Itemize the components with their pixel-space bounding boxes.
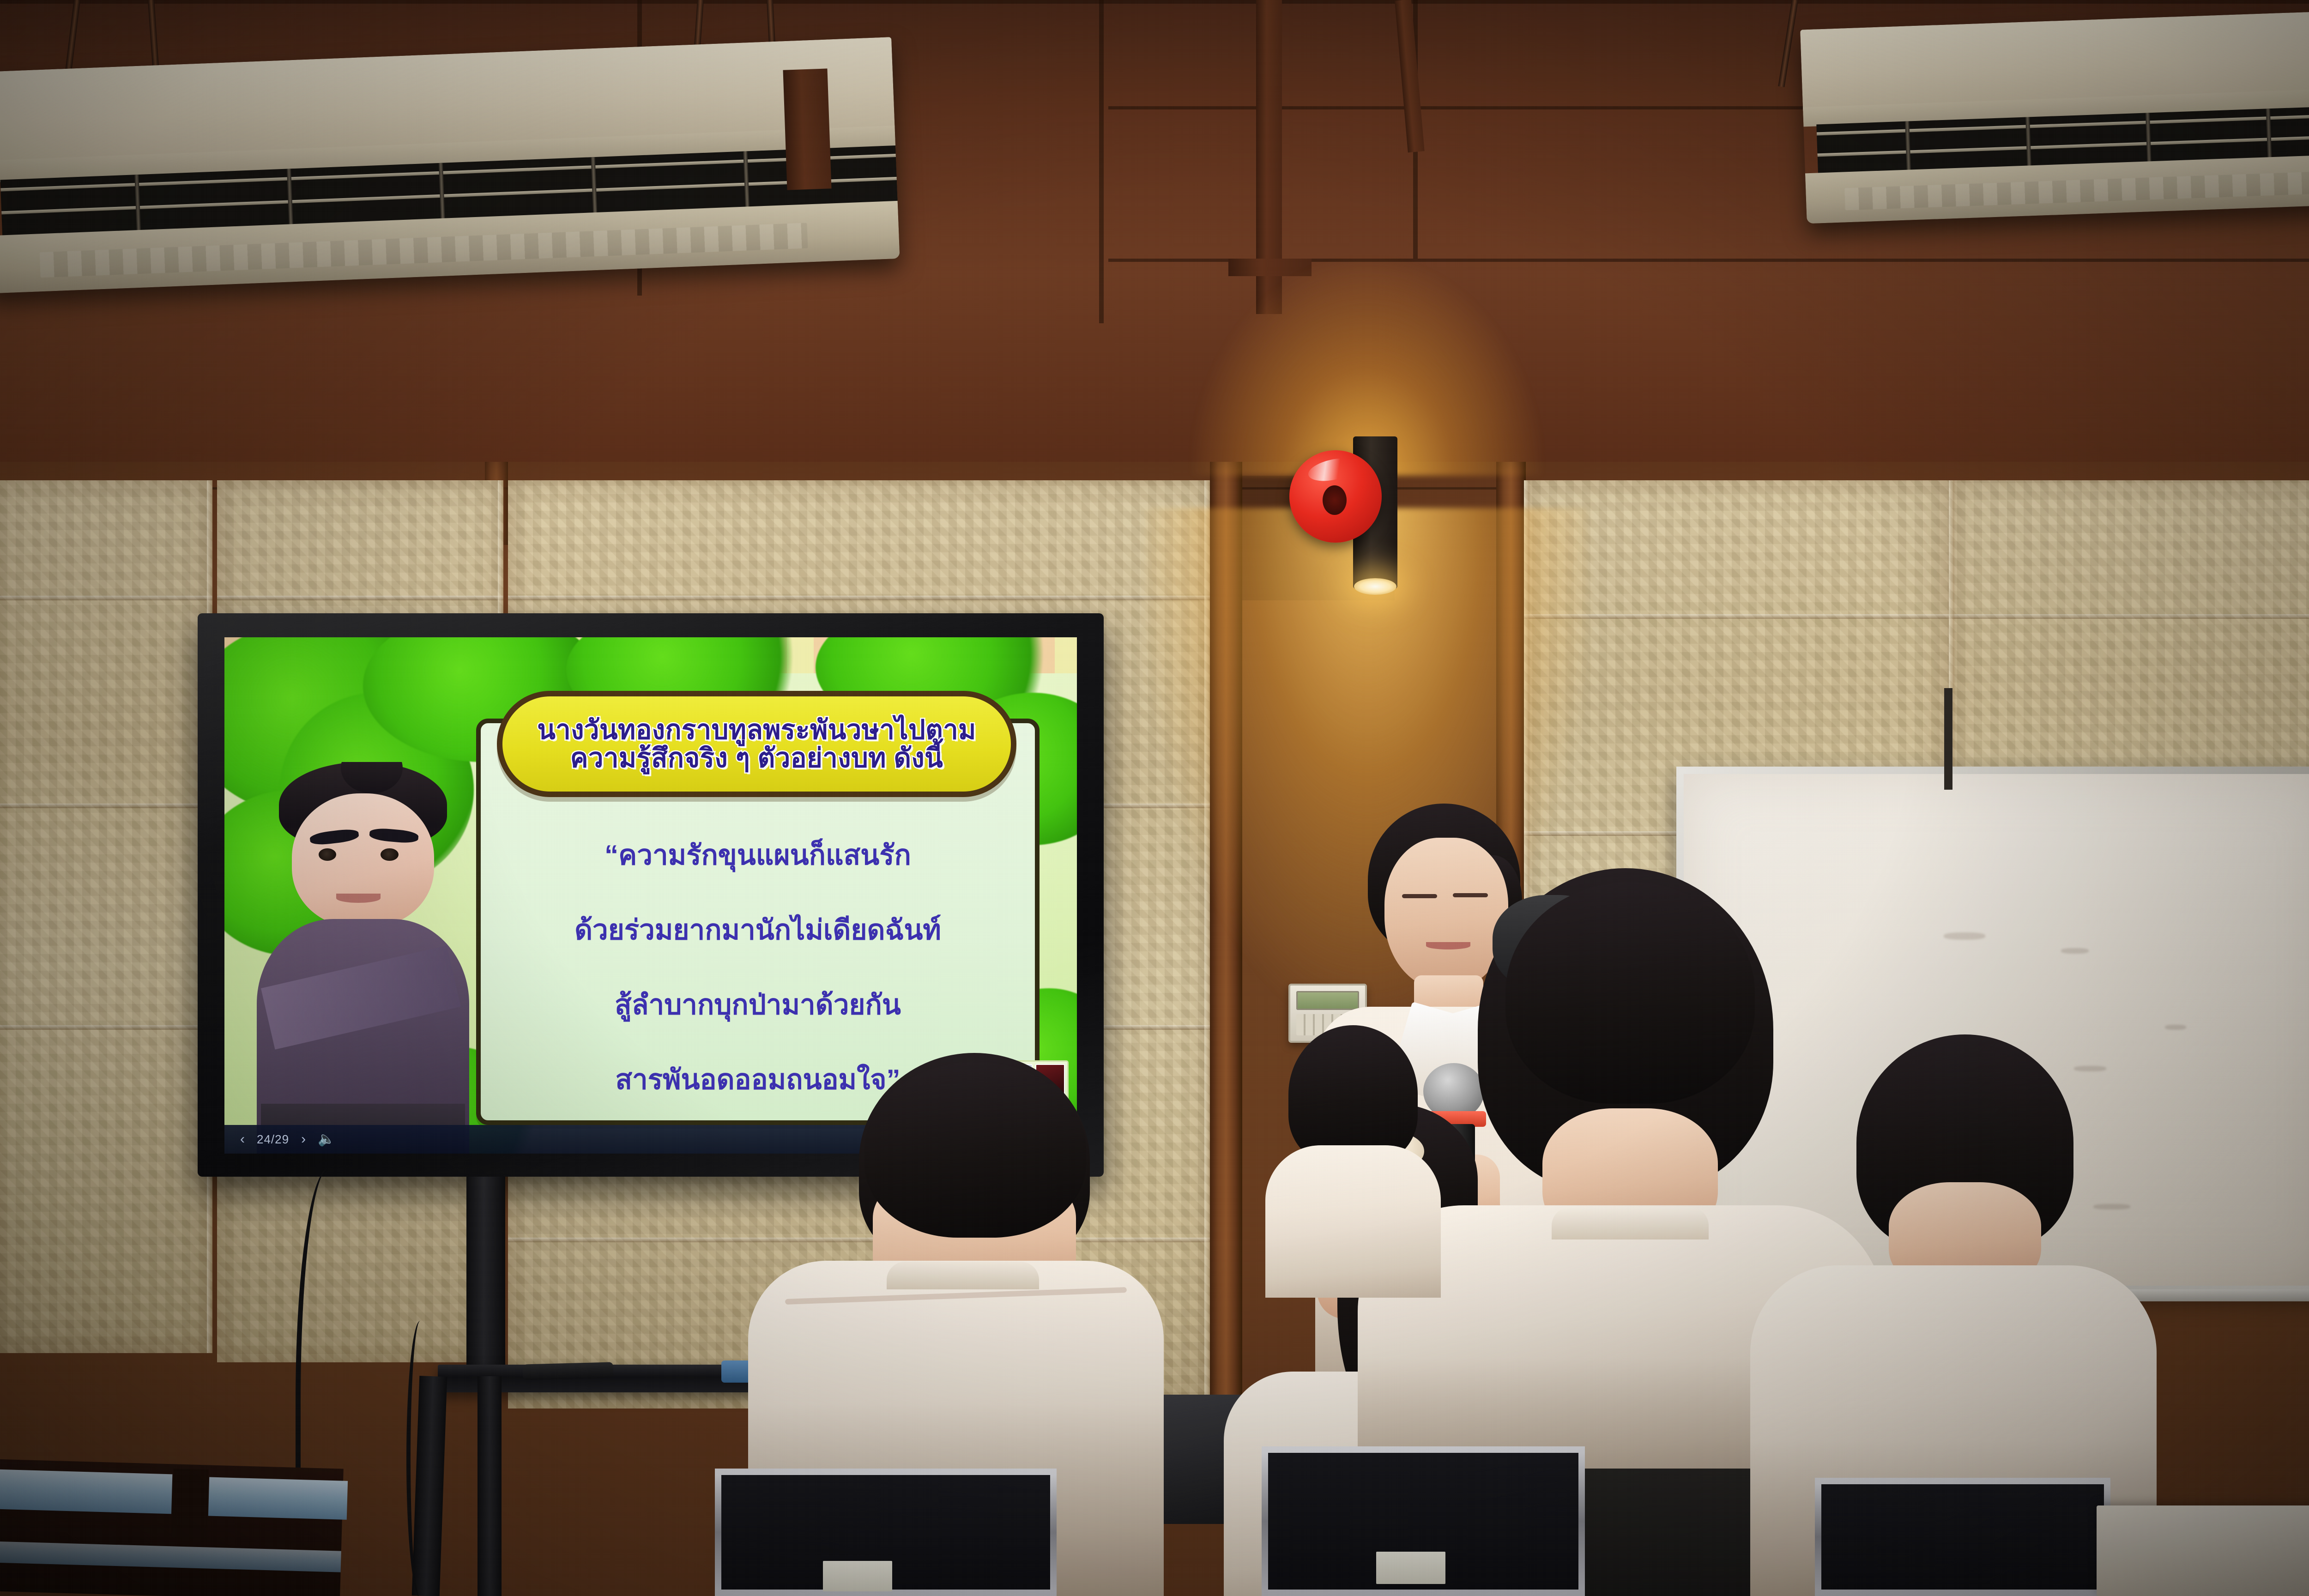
- window-pane: [0, 1469, 172, 1514]
- ceiling-air-conditioner-right: [1800, 7, 2309, 224]
- student-hair-bun: [1505, 882, 1755, 1104]
- student-shirt: [1265, 1145, 1441, 1298]
- tv-stand-neck: [466, 1177, 505, 1375]
- page-indicator: 24/29: [257, 1132, 289, 1147]
- seated-student-behind-speaker: [1279, 1025, 1432, 1284]
- ac-bracket: [783, 68, 831, 190]
- chair-sticker: [823, 1561, 892, 1591]
- window-pane: [208, 1477, 348, 1520]
- chevron-right-icon[interactable]: ›: [301, 1132, 306, 1146]
- whiteboard-hanger: [1944, 688, 1952, 790]
- window-pane: [0, 1541, 341, 1572]
- window-bottom-left: [0, 1459, 344, 1596]
- beige-damask-fabric-panel: [0, 480, 212, 1353]
- side-table: [2097, 1505, 2309, 1596]
- ceiling-air-conditioner-left: [0, 37, 900, 294]
- student-collar: [887, 1262, 1039, 1289]
- fire-alarm-bell: [1289, 450, 1382, 543]
- slide-title-line-2: ความรู้สึกจริง ๆ ตัวอย่างบท ดังนี้: [570, 744, 943, 772]
- tv-stand-leg: [478, 1376, 502, 1596]
- classroom-photo-scene: ความรู้สึกที่มีต่อ “ขุนแผน” “ความรักขุนแ…: [0, 0, 2309, 1596]
- slide-verse-line-3: สู้ลำบากบุกป่ามาด้วยกัน: [481, 983, 1035, 1027]
- slide-title-banner: นางวันทองกราบทูลพระพันวษาไปตาม ความรู้สึ…: [497, 691, 1016, 797]
- chrome-frame-chair-right[interactable]: [1815, 1478, 2110, 1596]
- ceiling-seam: [0, 0, 2309, 4]
- tv-remote-control[interactable]: [523, 1362, 614, 1380]
- student-collar: [1552, 1207, 1709, 1239]
- window-mullion: [172, 1469, 209, 1539]
- slide-title-line-1: นางวันทองกราบทูลพระพันวษาไปตาม: [537, 716, 976, 744]
- student-hair: [1288, 1025, 1418, 1164]
- slide-verse-line-1: “ความรักขุนแผนก็แสนรัก: [481, 833, 1035, 877]
- khun-phaen-3d-character: [252, 762, 474, 1154]
- chair-sticker: [1376, 1552, 1445, 1584]
- student-hair-top: [864, 1062, 1086, 1238]
- power-cable: [406, 1321, 434, 1596]
- slide-verse-line-2: ด้วยร่วมยากมานักไม่เดียดฉันท์: [481, 908, 1035, 952]
- wall-light-lamp: [1354, 578, 1396, 595]
- speaker-mute-icon[interactable]: 🔈: [318, 1132, 335, 1146]
- chevron-left-icon[interactable]: ‹: [240, 1132, 245, 1146]
- ceiling-seam: [1099, 0, 1104, 323]
